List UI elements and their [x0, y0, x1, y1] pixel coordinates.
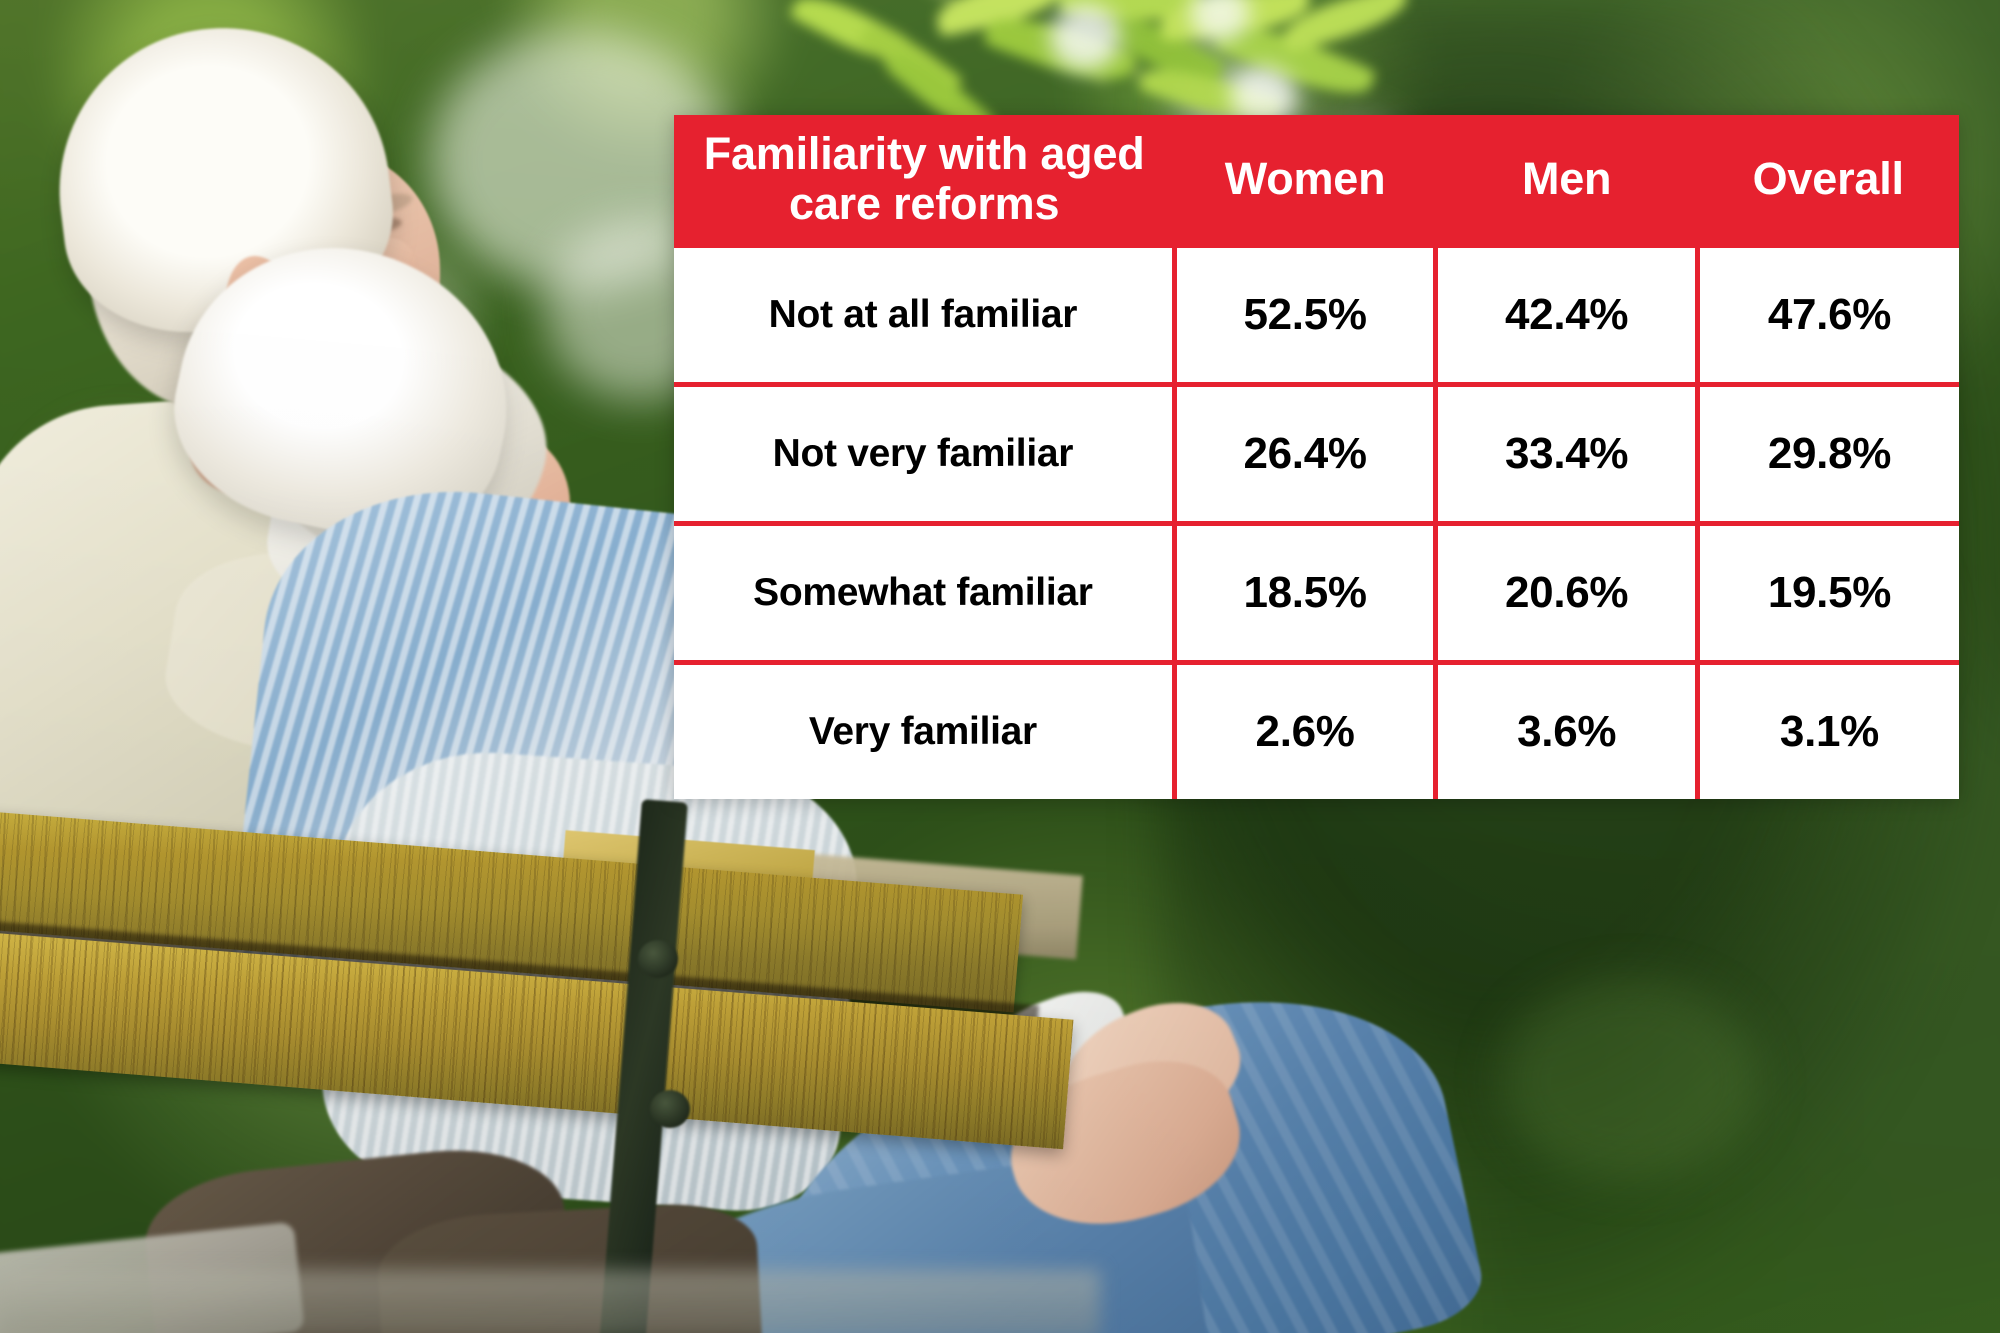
cell-women-somewhat-familiar: 18.5% [1174, 524, 1436, 663]
column-header-men: Men [1436, 115, 1698, 246]
table-row: Not at all familiar 52.5% 42.4% 47.6% [674, 246, 1959, 385]
cell-overall-very-familiar: 3.1% [1697, 663, 1959, 799]
row-label-not-very-familiar: Not very familiar [674, 385, 1174, 524]
cell-women-not-very-familiar: 26.4% [1174, 385, 1436, 524]
row-label-somewhat-familiar: Somewhat familiar [674, 524, 1174, 663]
table-header: Familiarity with aged care reforms Women… [674, 115, 1959, 246]
cell-men-somewhat-familiar: 20.6% [1436, 524, 1698, 663]
cell-women-very-familiar: 2.6% [1174, 663, 1436, 799]
cell-women-not-at-all-familiar: 52.5% [1174, 246, 1436, 385]
cell-overall-somewhat-familiar: 19.5% [1697, 524, 1959, 663]
table-row: Somewhat familiar 18.5% 20.6% 19.5% [674, 524, 1959, 663]
table-header-row: Familiarity with aged care reforms Women… [674, 115, 1959, 246]
cell-men-not-at-all-familiar: 42.4% [1436, 246, 1698, 385]
column-header-overall: Overall [1697, 115, 1959, 246]
familiarity-table: Familiarity with aged care reforms Women… [674, 115, 1959, 799]
cell-overall-not-very-familiar: 29.8% [1697, 385, 1959, 524]
table-row: Not very familiar 26.4% 33.4% 29.8% [674, 385, 1959, 524]
cell-men-very-familiar: 3.6% [1436, 663, 1698, 799]
familiarity-table-panel: Familiarity with aged care reforms Women… [674, 115, 1959, 799]
bench-bolt [638, 940, 678, 978]
ground-path [0, 1270, 1100, 1333]
row-label-not-at-all-familiar: Not at all familiar [674, 246, 1174, 385]
column-header-familiarity: Familiarity with aged care reforms [674, 115, 1174, 246]
cell-men-not-very-familiar: 33.4% [1436, 385, 1698, 524]
cell-overall-not-at-all-familiar: 47.6% [1697, 246, 1959, 385]
row-label-very-familiar: Very familiar [674, 663, 1174, 799]
screenshot-root: Familiarity with aged care reforms Women… [0, 0, 2000, 1333]
column-header-women: Women [1174, 115, 1436, 246]
table-row: Very familiar 2.6% 3.6% 3.1% [674, 663, 1959, 799]
table-body: Not at all familiar 52.5% 42.4% 47.6% No… [674, 246, 1959, 800]
bench-bolt [650, 1090, 690, 1128]
